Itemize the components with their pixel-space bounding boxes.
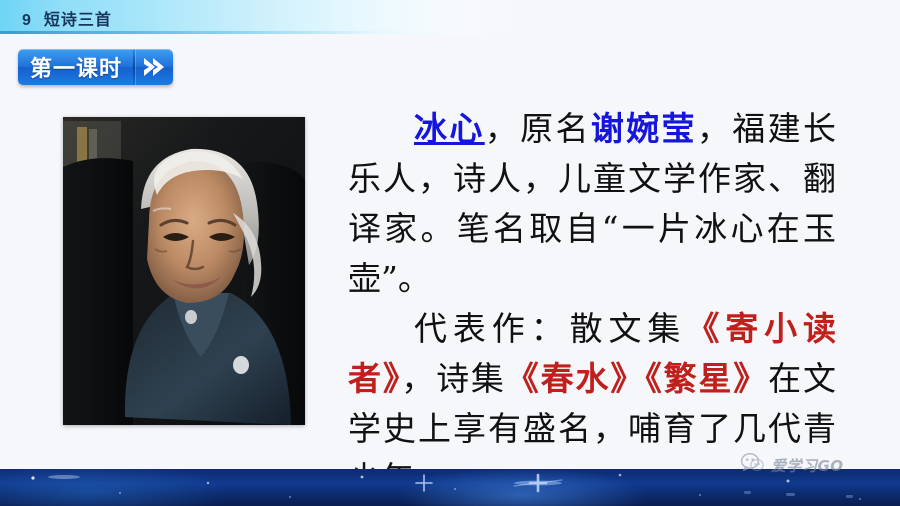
- pen-name: 冰心: [414, 109, 485, 148]
- header-bar: 9短诗三首: [0, 0, 900, 34]
- bio-p2-text-1: 代表作：散文集: [414, 309, 686, 348]
- lesson-number: 9: [22, 12, 32, 29]
- work-title-2: 《春水》: [506, 359, 645, 398]
- watermark-label: 爱学习GO: [771, 455, 844, 476]
- watermark: 爱学习GO: [740, 452, 844, 478]
- bio-p2-text-2: ，诗集: [401, 359, 506, 398]
- biography-text: 冰心，原名谢婉莹，福建长乐人，诗人，儿童文学作家、翻译家。笔名取自“一片冰心在玉…: [348, 104, 836, 504]
- slide-canvas: 9短诗三首 第一课时: [0, 0, 900, 506]
- lesson-period-button[interactable]: 第一课时: [18, 49, 173, 85]
- lesson-period-label: 第一课时: [18, 49, 133, 85]
- chevron-right-double-icon[interactable]: [135, 49, 173, 85]
- bio-paragraph-1: 冰心，原名谢婉莹，福建长乐人，诗人，儿童文学作家、翻译家。笔名取自“一片冰心在玉…: [348, 104, 836, 304]
- work-title-3: 《繁星》: [645, 359, 768, 398]
- real-name: 谢婉莹: [591, 109, 697, 148]
- portrait-photo: [63, 117, 305, 425]
- wechat-bubble-icon: [740, 452, 764, 478]
- lesson-title: 短诗三首: [44, 12, 112, 29]
- page-title: 9短诗三首: [22, 6, 112, 30]
- bio-p1-text-1: ，原名: [485, 109, 591, 148]
